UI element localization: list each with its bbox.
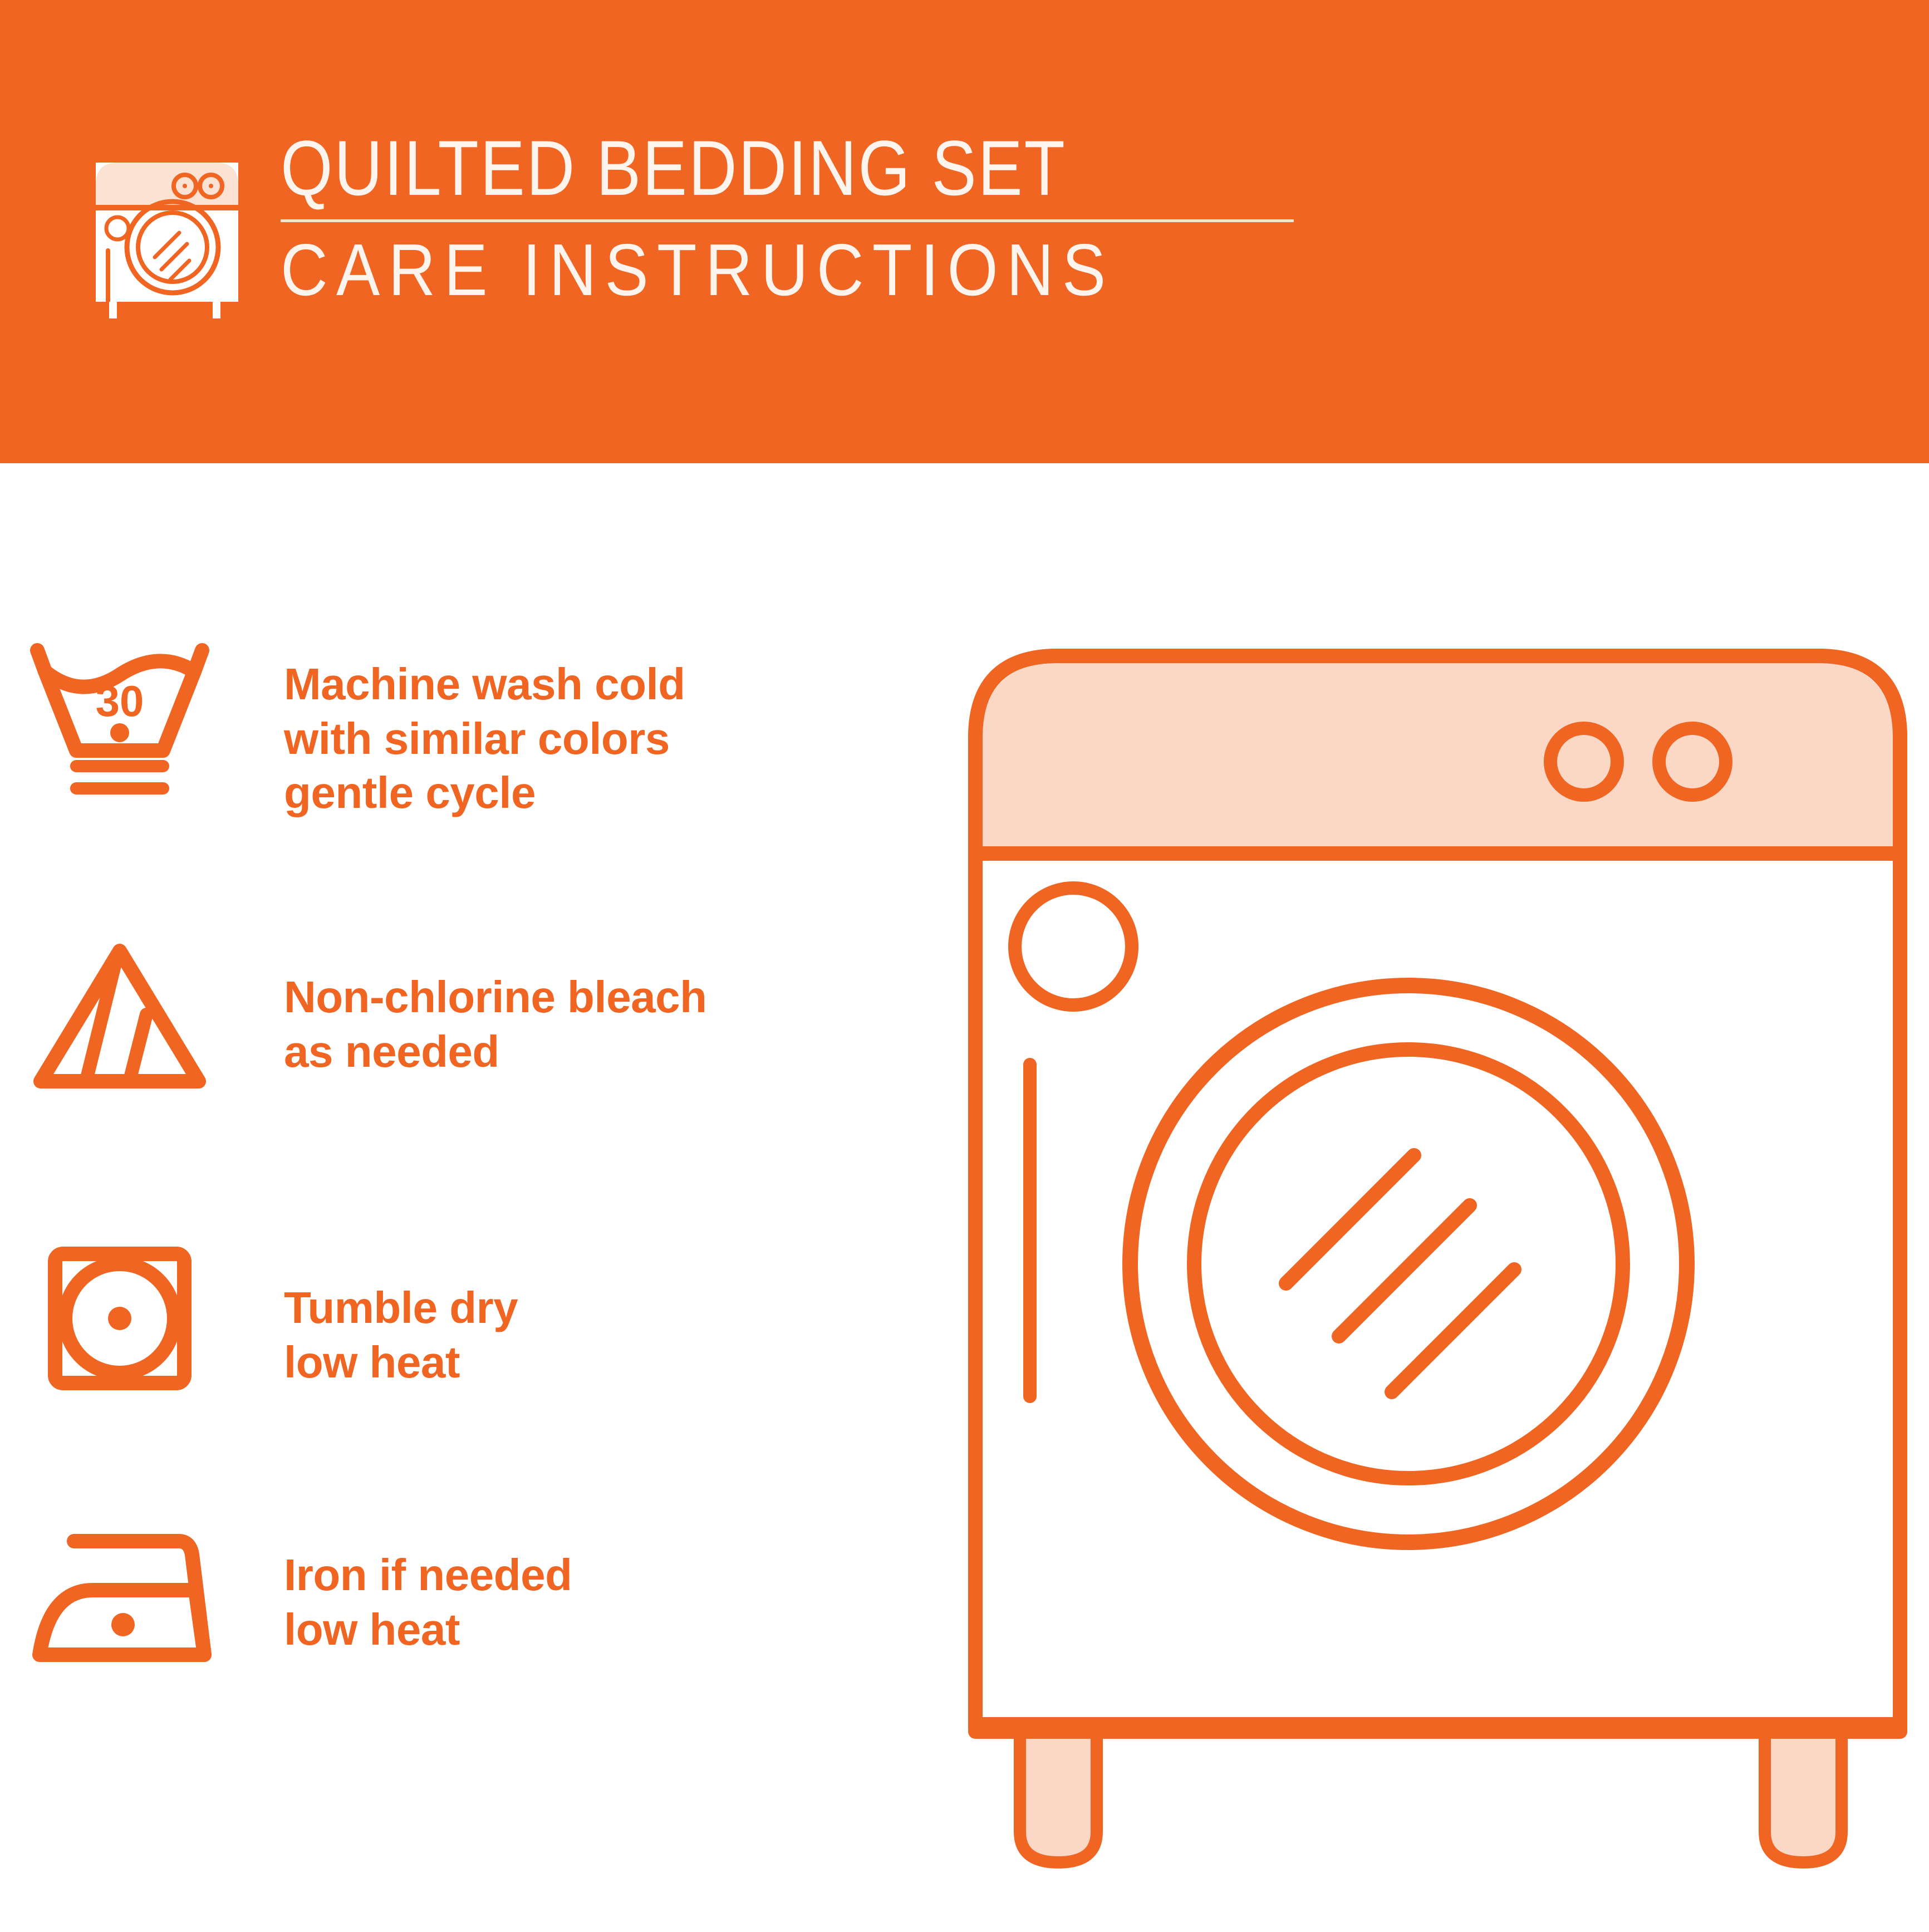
care-line: gentle cycle	[284, 766, 685, 820]
care-line: Machine wash cold	[284, 657, 685, 712]
non-chlorine-bleach-triangle-icon	[0, 930, 223, 1097]
base-bar	[975, 1717, 1900, 1732]
care-item-label-iron: Iron if needed low heat	[223, 1514, 572, 1656]
care-line: low heat	[284, 1602, 572, 1657]
care-item-iron: Iron if needed low heat	[0, 1514, 946, 1681]
care-item-machine-wash: 30 Machine wash cold with similar colors…	[0, 635, 946, 820]
care-line: as needed	[284, 1024, 706, 1079]
tumble-dry-low-heat-icon	[0, 1242, 223, 1409]
washing-machine-logo-icon	[84, 124, 251, 318]
care-item-label-machine-wash: Machine wash cold with similar colors ge…	[223, 635, 685, 820]
title-divider	[281, 219, 1294, 222]
iron-low-heat-icon	[0, 1514, 223, 1681]
wash-temperature-label: 30	[96, 676, 144, 725]
header-content: QUILTED BEDDING SET CARE INSTRUCTIONS	[84, 124, 1294, 318]
leg-right	[1765, 1726, 1842, 1862]
care-item-label-bleach: Non-chlorine bleach as needed	[223, 930, 706, 1078]
care-line: Iron if needed	[284, 1548, 572, 1602]
care-line: Non-chlorine bleach	[284, 970, 706, 1024]
page-subtitle: CARE INSTRUCTIONS	[281, 233, 1182, 307]
panel-divider	[975, 846, 1900, 861]
leg-left	[1020, 1726, 1097, 1862]
washing-machine-illustration	[946, 612, 1929, 1929]
care-item-tumble-dry: Tumble dry low heat	[0, 1242, 946, 1409]
header-titles: QUILTED BEDDING SET CARE INSTRUCTIONS	[281, 124, 1294, 307]
care-item-label-tumble-dry: Tumble dry low heat	[223, 1242, 518, 1389]
care-item-bleach: Non-chlorine bleach as needed	[0, 930, 946, 1097]
wash-tub-30-gentle-icon: 30	[0, 635, 223, 802]
page-title: QUILTED BEDDING SET	[281, 129, 1152, 207]
control-knob-left	[1550, 728, 1617, 795]
top-control-panel	[983, 663, 1893, 852]
care-line: Tumble dry	[284, 1281, 518, 1335]
vertical-accent-line	[1023, 1058, 1037, 1403]
care-line: with similar colors	[284, 712, 685, 766]
control-knob-right	[1659, 728, 1726, 795]
care-instructions-page: QUILTED BEDDING SET CARE INSTRUCTIONS 30	[0, 0, 1929, 1929]
page-header: QUILTED BEDDING SET CARE INSTRUCTIONS	[0, 0, 1929, 463]
care-line: low heat	[284, 1335, 518, 1390]
